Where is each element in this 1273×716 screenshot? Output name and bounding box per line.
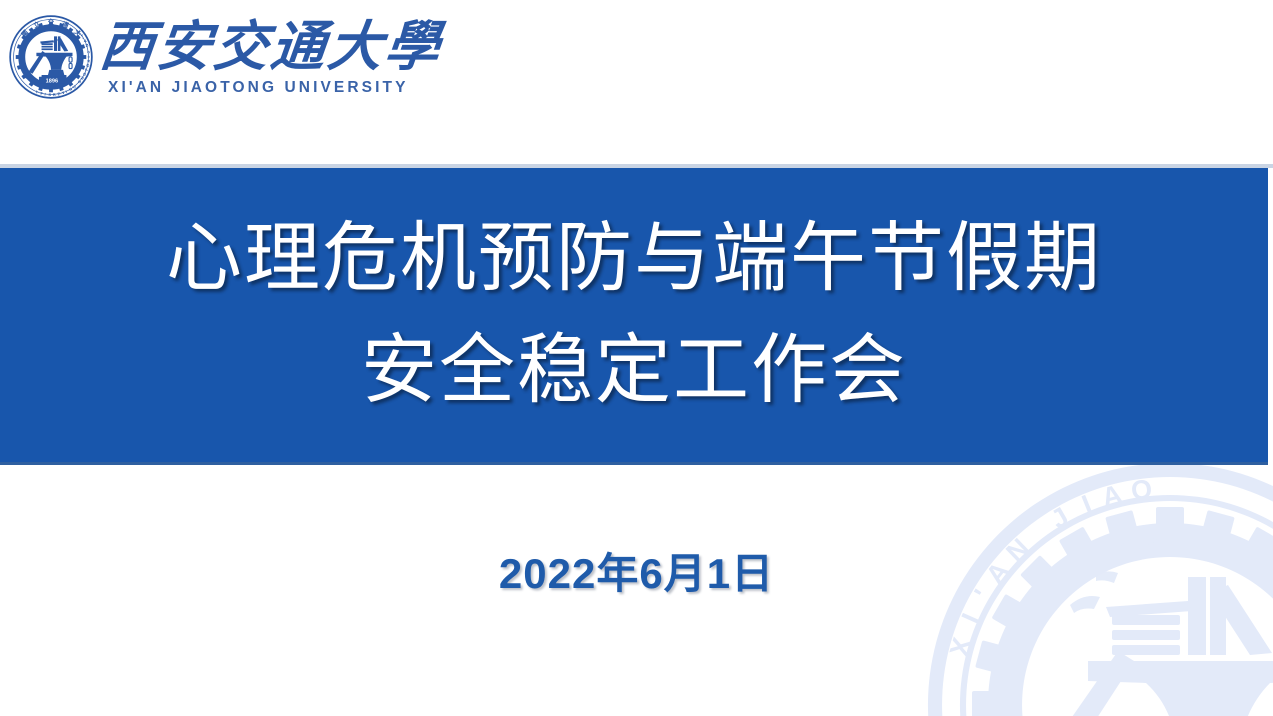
svg-text:A: A bbox=[1099, 478, 1129, 513]
page-title-line-2: 安全稳定工作会 bbox=[361, 315, 907, 427]
presentation-date: 2022年6月1日 bbox=[499, 540, 774, 601]
svg-text:R: R bbox=[53, 92, 56, 97]
university-wordmark: 西安交通大學 XI'AN JIAOTONG UNIVERSITY bbox=[100, 13, 442, 97]
crest-year-label: 1896 bbox=[46, 78, 58, 84]
svg-text:J: J bbox=[86, 51, 91, 54]
title-band: 心理危机预防与端午节假期 安全稳定工作会 bbox=[0, 168, 1268, 462]
title-slide: 1896 X I ' A N J I A O bbox=[0, 0, 1273, 716]
svg-text:Y: Y bbox=[35, 89, 40, 95]
svg-text:A: A bbox=[86, 59, 91, 63]
svg-text:O: O bbox=[1129, 473, 1157, 506]
wordmark-chinese: 西安交通大學 bbox=[97, 17, 445, 77]
svg-text:J: J bbox=[1046, 499, 1077, 534]
date-area: 2022年6月1日 bbox=[0, 540, 1273, 601]
svg-text:X: X bbox=[944, 630, 979, 659]
svg-text:': ' bbox=[81, 36, 86, 39]
wordmark-english: XI'AN JIAOTONG UNIVERSITY bbox=[108, 79, 442, 97]
svg-text:I: I bbox=[1078, 488, 1100, 520]
svg-text:O: O bbox=[85, 63, 91, 67]
slide-header: 1896 X I ' A N J I A O T O N bbox=[0, 0, 1273, 168]
title-band-bottom-rule bbox=[0, 462, 1268, 465]
university-crest-icon: 1896 X I ' A N J I A O T O N bbox=[8, 14, 94, 100]
university-logo: 1896 X I ' A N J I A O T O N bbox=[8, 13, 442, 100]
svg-text:交: 交 bbox=[48, 17, 55, 26]
page-title-line-1: 心理危机预防与端午节假期 bbox=[166, 203, 1102, 315]
svg-text:I: I bbox=[956, 605, 988, 628]
svg-text:N: N bbox=[84, 43, 90, 47]
svg-text:I: I bbox=[86, 56, 91, 57]
svg-text:E: E bbox=[57, 91, 61, 97]
svg-text:I: I bbox=[65, 89, 68, 94]
